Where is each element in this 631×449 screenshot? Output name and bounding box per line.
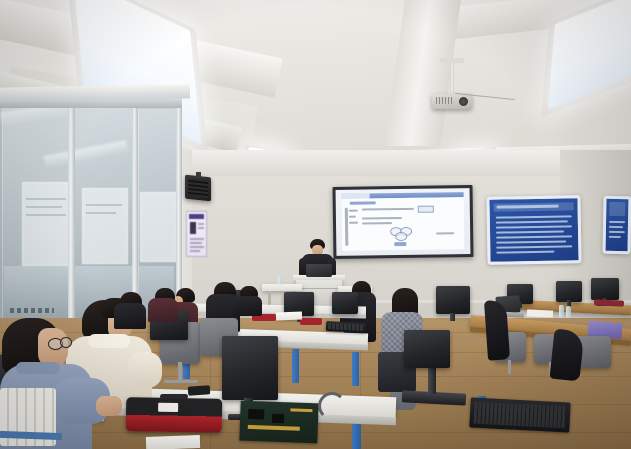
- slide-sidebar-item-1: [349, 210, 358, 212]
- table-left-of-lectern: [262, 284, 302, 291]
- slide-sidebar-item-3: [349, 222, 358, 224]
- attendee-front-left-collar: [16, 362, 60, 374]
- desk-front-leg-blue-2: [352, 424, 361, 449]
- attendee-far-back-body: [148, 298, 178, 322]
- interior-poster-1-line-1: [26, 198, 66, 200]
- red-case-mid-desk-2: [300, 318, 322, 325]
- circuit-board-pins: [290, 408, 312, 412]
- slide-right-note: [436, 232, 454, 234]
- desk-mid-leg-blue-2: [292, 349, 299, 383]
- poster-blue-line-3: [496, 225, 572, 228]
- equipment-case-label: [158, 403, 178, 412]
- poster-blue-right-wall: [602, 196, 631, 254]
- papers-front-desk: [146, 435, 200, 449]
- interior-poster-3: [140, 192, 176, 262]
- poster-right-line-3: [609, 231, 625, 233]
- glass-partition-wall: [0, 96, 182, 326]
- poster-blue-line-5: [496, 235, 572, 238]
- slide-sidebar-tree: [345, 208, 349, 246]
- monitor-front-2: [222, 336, 278, 400]
- poster-blue-line-1: [496, 215, 572, 218]
- back-wall-soffit: [150, 150, 631, 176]
- interior-sign-text: [10, 308, 54, 313]
- poster-blue-line-7: [496, 245, 572, 248]
- attendee-front-left-glasses-2: [60, 337, 72, 348]
- interior-poster-1: [22, 182, 72, 266]
- keyboard-mid-keys: [328, 323, 364, 331]
- circuit-board: [239, 401, 318, 444]
- chair-mid-1-base: [164, 380, 198, 383]
- projection-screen-surface: [336, 188, 471, 256]
- slide-row-3: [362, 222, 392, 224]
- projector-mount-pole: [450, 62, 454, 96]
- attendee-front-left-hand: [96, 396, 122, 416]
- interior-poster-2-line-2: [86, 212, 116, 214]
- monitor-right-3: [591, 278, 619, 300]
- poster-blue-line-8: [496, 251, 554, 254]
- chair-right-1-post: [508, 360, 511, 374]
- papers-mid-desk: [276, 312, 302, 321]
- poster-blue-line-4: [496, 230, 564, 233]
- keyboard-front-right[interactable]: [469, 397, 570, 432]
- monitor-front-right-post: [428, 366, 436, 394]
- poster-blue-line-6: [496, 240, 566, 243]
- lectern-panel-line: [300, 288, 338, 289]
- lectern-laptop: [306, 264, 332, 277]
- interior-poster-2: [82, 188, 128, 264]
- projection-screen: [333, 185, 474, 259]
- wall-speaker: [185, 175, 211, 202]
- classroom-photo: [0, 0, 631, 449]
- attendee-cream-collar: [88, 334, 130, 348]
- slide-heading: [350, 201, 376, 204]
- interior-poster-2-line-1: [86, 204, 122, 206]
- poster-purple-photo: [190, 222, 196, 234]
- interior-poster-1-line-2: [26, 206, 62, 208]
- bottle-right-desk-2: [566, 306, 571, 318]
- glass-mullion-1: [68, 96, 75, 326]
- monitor-front-right: [436, 286, 470, 314]
- papers-right-desk: [527, 309, 553, 317]
- equipment-case-red-black: [126, 397, 223, 433]
- interior-poster-1-line-3: [26, 214, 66, 216]
- desk-mid-leg-blue-3: [352, 352, 359, 386]
- attendee-back-row-body: [234, 296, 262, 316]
- slide-input-box: [418, 206, 434, 213]
- poster-purple-line-1: [198, 223, 204, 225]
- speaker-grille: [188, 178, 208, 198]
- keyboard-front-right-keys: [473, 402, 566, 429]
- poster-purple-line-6: [190, 250, 200, 252]
- projector-lens: [459, 97, 468, 106]
- chair-mid-1-post: [178, 362, 182, 382]
- speaker-bracket: [196, 172, 201, 178]
- monitor-front-right-stand: [450, 313, 455, 321]
- attendee-back-left-body: [114, 303, 146, 329]
- bottle-on-side-table: [278, 276, 282, 285]
- smartphone-on-desk[interactable]: [188, 385, 211, 396]
- poster-purple-line-4: [190, 242, 202, 244]
- poster-right-line-1: [609, 221, 625, 223]
- poster-purple-line-3: [190, 238, 204, 240]
- poster-blue-back-wall: [486, 195, 581, 265]
- poster-purple-line-5: [190, 246, 204, 248]
- monitor-right-2: [556, 281, 582, 302]
- circuit-board-chip-1: [248, 409, 264, 420]
- slide-sidebar-item-2: [349, 216, 356, 218]
- monitor-front-far-right: [404, 330, 450, 368]
- projector-vent: [436, 97, 452, 104]
- bottle-right-desk: [559, 305, 564, 318]
- monitor-mid-3: [332, 292, 358, 314]
- poster-purple-column: [186, 211, 207, 257]
- poster-purple-line-2: [198, 227, 204, 229]
- poster-right-header: [609, 202, 625, 216]
- poster-right-line-4: [609, 236, 621, 238]
- circuit-board-chip-2: [272, 414, 284, 423]
- poster-blue-line-2: [496, 220, 568, 223]
- poster-right-line-2: [609, 226, 623, 228]
- attendee-cream-arm: [128, 352, 162, 388]
- projector-ceiling-plate: [440, 58, 464, 63]
- poster-purple-header: [189, 214, 204, 219]
- cable-loop-foreground: [318, 392, 346, 420]
- slide-diagram-footer: [394, 242, 406, 246]
- keyboard-mid-desk[interactable]: [326, 321, 366, 333]
- circuit-board-connector: [248, 425, 300, 431]
- equipment-case-handle: [160, 394, 188, 399]
